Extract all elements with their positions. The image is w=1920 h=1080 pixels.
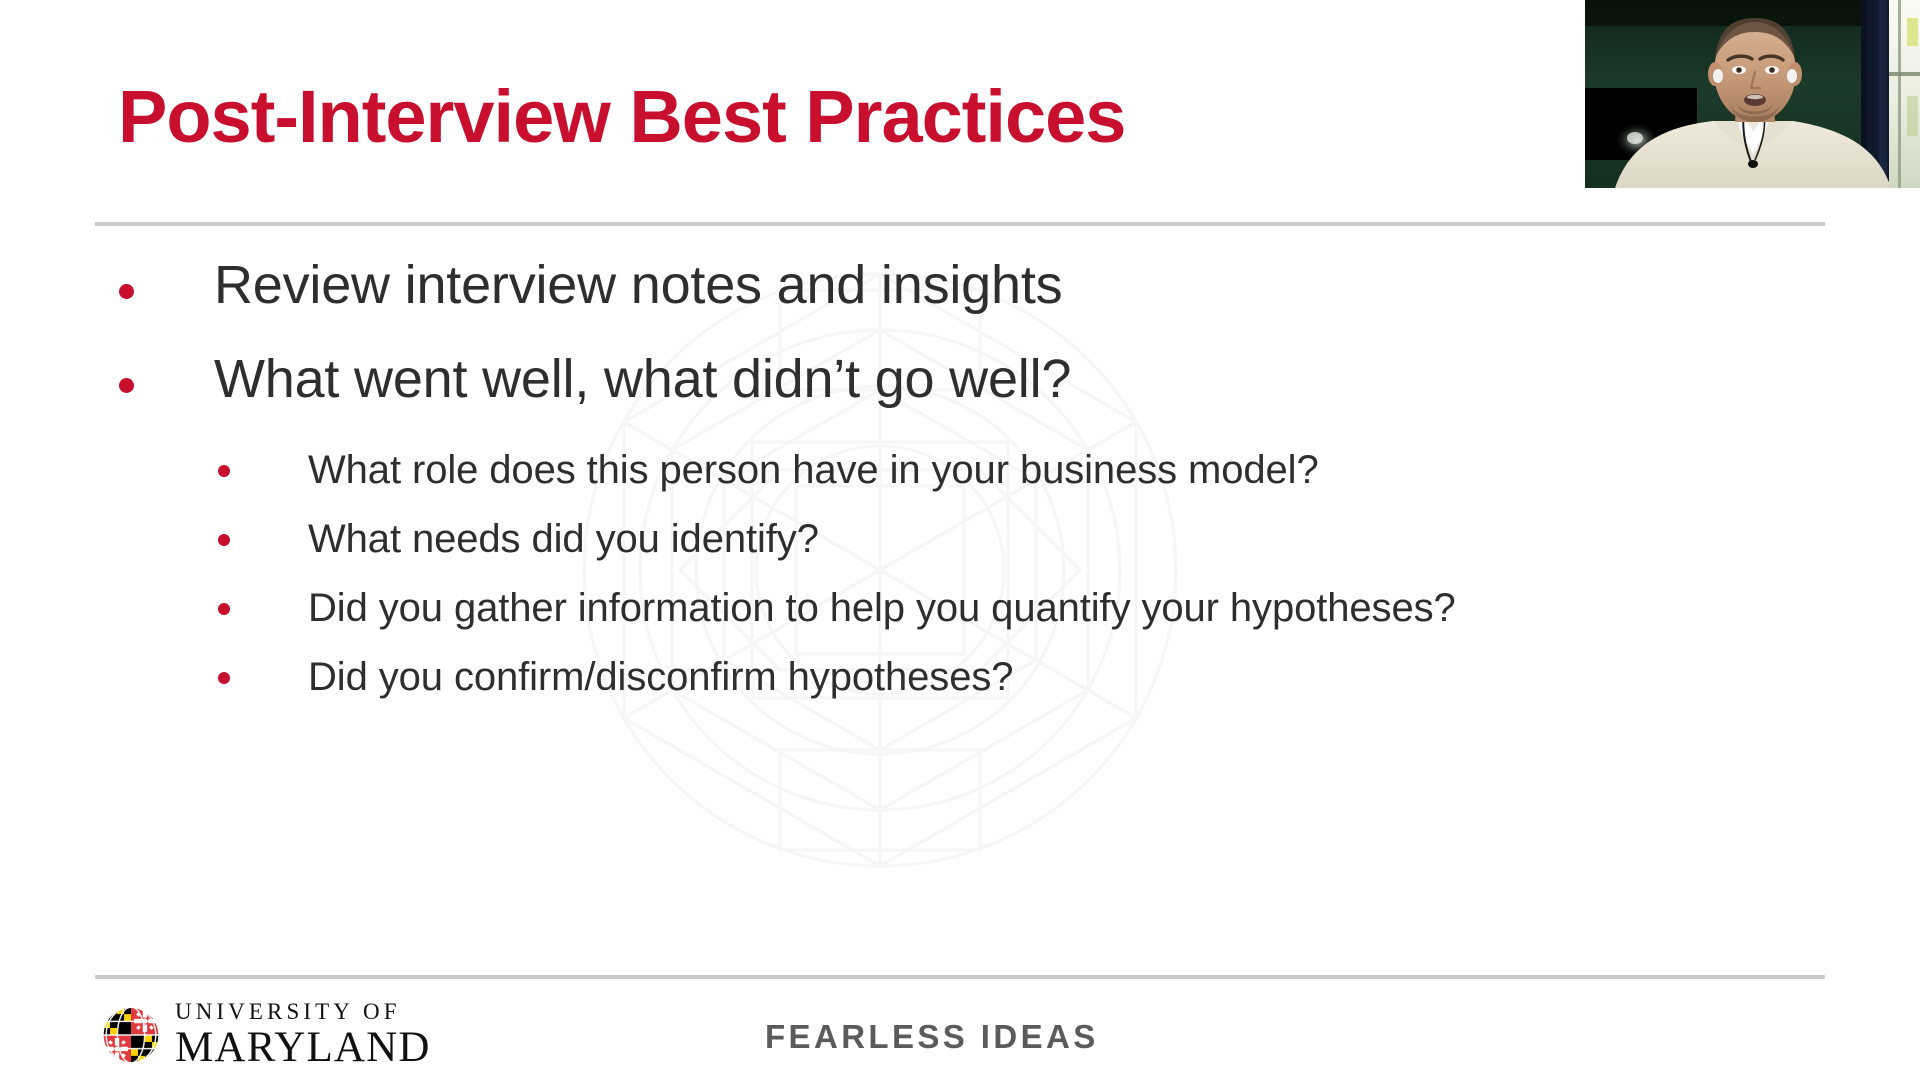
- bullet-text: Did you confirm/disconfirm hypotheses?: [308, 655, 1013, 699]
- footer-tagline: FEARLESS IDEAS: [765, 1018, 1099, 1056]
- bullet-marker-icon: [119, 284, 134, 299]
- bullet-item-level1: Review interview notes and insights: [0, 255, 1560, 315]
- bullet-text: What went well, what didn’t go well?: [214, 349, 1071, 409]
- webcam-video-frame: [1585, 0, 1920, 188]
- bullet-marker-icon: [218, 465, 230, 477]
- bullet-marker-icon: [119, 378, 134, 393]
- bullet-item-level1: What went well, what didn’t go well?: [0, 349, 1560, 409]
- bullet-marker-icon: [218, 603, 230, 615]
- bullet-text: What needs did you identify?: [308, 517, 819, 561]
- wordmark-line-2: MARYLAND: [175, 1026, 431, 1069]
- bullet-item-level2: Did you confirm/disconfirm hypotheses?: [0, 651, 1560, 703]
- bullet-item-level2: What needs did you identify?: [0, 513, 1560, 565]
- slide-body: Review interview notes and insights What…: [0, 255, 1560, 720]
- footer-divider-rule: [95, 975, 1825, 979]
- slide-title: Post-Interview Best Practices: [118, 78, 1125, 156]
- bullet-item-level2: What role does this person have in your …: [0, 444, 1560, 496]
- presentation-slide: Post-Interview Best Practices Review int…: [0, 0, 1920, 1080]
- bullet-text: Did you gather information to help you q…: [308, 586, 1456, 630]
- bullet-marker-icon: [218, 672, 230, 684]
- bullet-item-level2: Did you gather information to help you q…: [0, 582, 1560, 634]
- presenter-webcam-overlay[interactable]: [1585, 0, 1920, 188]
- wordmark-line-1: UNIVERSITY OF: [175, 1000, 431, 1023]
- university-wordmark: UNIVERSITY OF MARYLAND: [175, 1000, 431, 1069]
- university-logo: UNIVERSITY OF MARYLAND: [100, 1000, 431, 1069]
- title-divider-rule: [95, 222, 1825, 226]
- bullet-text: What role does this person have in your …: [308, 448, 1319, 492]
- bullet-text: Review interview notes and insights: [214, 255, 1062, 315]
- maryland-flag-globe-icon: [100, 1004, 162, 1066]
- bullet-marker-icon: [218, 534, 230, 546]
